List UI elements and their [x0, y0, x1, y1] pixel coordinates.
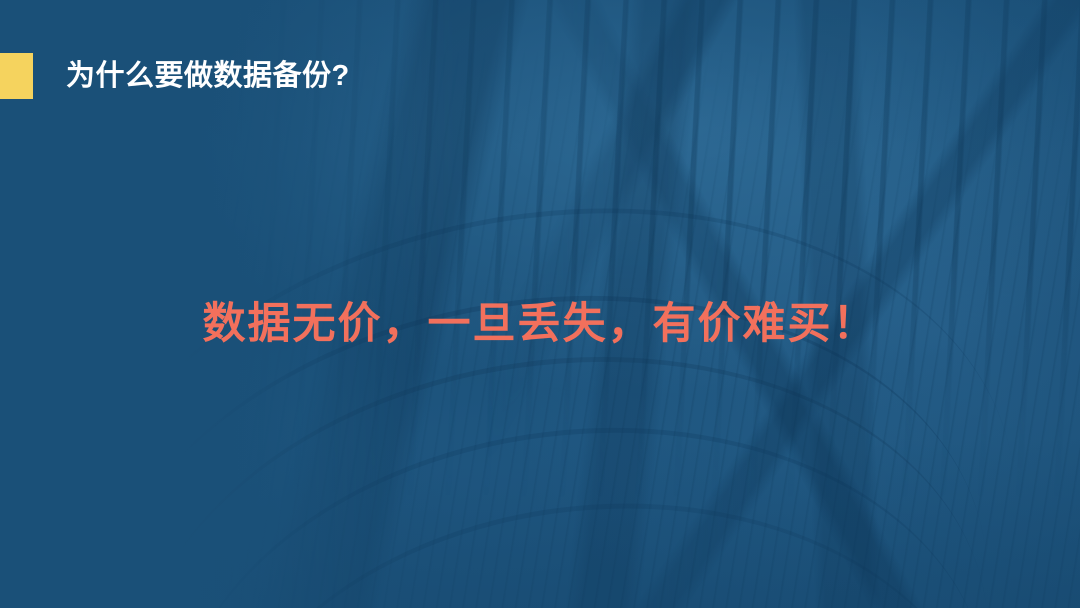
shelf-arc	[47, 233, 1034, 608]
shelf-arc	[183, 466, 1018, 608]
presentation-slide: 为什么要做数据备份? 数据无价，一旦丢失，有价难买！	[0, 0, 1080, 608]
slide-title-row: 为什么要做数据备份?	[0, 53, 350, 99]
shelf-arc	[5, 130, 1074, 608]
title-accent-square	[0, 53, 33, 99]
headline-statement: 数据无价，一旦丢失，有价难买！	[0, 300, 1080, 349]
page-title: 为什么要做数据备份?	[66, 62, 350, 91]
shelf-arc	[137, 382, 1022, 608]
